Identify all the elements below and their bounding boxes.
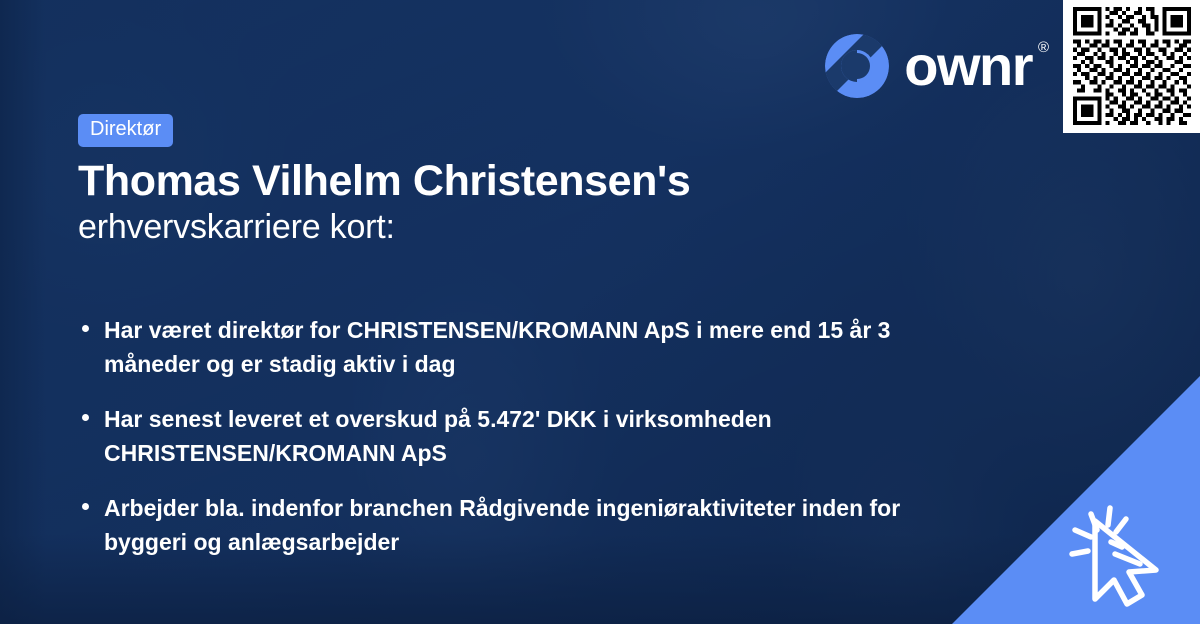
bullet-dot-icon <box>82 414 89 421</box>
career-highlights-list: Har været direktør for CHRISTENSEN/KROMA… <box>78 313 978 559</box>
page-title: Thomas Vilhelm Christensen's erhvervskar… <box>78 157 1058 248</box>
list-item-text: Arbejder bla. indenfor branchen Rådgiven… <box>104 495 900 555</box>
list-item: Har senest leveret et overskud på 5.472'… <box>78 402 978 470</box>
background-left-vignette <box>0 0 46 624</box>
list-item: Har været direktør for CHRISTENSEN/KROMA… <box>78 313 978 381</box>
bullet-dot-icon <box>82 325 89 332</box>
list-item: Arbejder bla. indenfor branchen Rådgiven… <box>78 491 978 559</box>
bullet-dot-icon <box>82 503 89 510</box>
card-content: Direktør Thomas Vilhelm Christensen's er… <box>78 0 1200 624</box>
title-line-primary: Thomas Vilhelm Christensen's <box>78 157 1058 206</box>
role-badge: Direktør <box>78 114 173 147</box>
business-card-banner: ownr ® Direktør Thomas Vilhelm Christens… <box>0 0 1200 624</box>
list-item-text: Har senest leveret et overskud på 5.472'… <box>104 406 772 466</box>
list-item-text: Har været direktør for CHRISTENSEN/KROMA… <box>104 317 890 377</box>
title-line-secondary: erhvervskarriere kort: <box>78 206 1058 249</box>
